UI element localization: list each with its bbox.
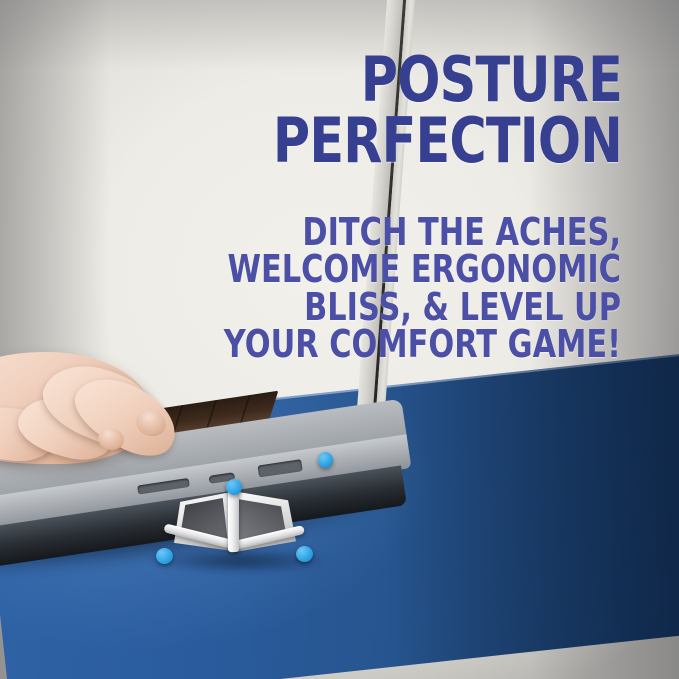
subheadline-line-2: WELCOME ERGONOMIC [173, 251, 621, 288]
subheadline-line-1: DITCH THE ACHES, [173, 214, 621, 251]
product-poster: POSTURE PERFECTION DITCH THE ACHES, WELC… [0, 0, 679, 679]
typing-hand [0, 352, 222, 482]
stand-foot-left [156, 548, 173, 564]
subheadline-line-3: BLISS, & LEVEL UP [173, 289, 621, 326]
poster-subheadline: DITCH THE ACHES, WELCOME ERGONOMIC BLISS… [173, 214, 621, 364]
stand-foot-top [226, 479, 242, 495]
subheadline-line-4: YOUR COMFORT GAME! [173, 326, 621, 363]
laptop-stand [168, 486, 300, 570]
headline-line-2: PERFECTION [163, 111, 622, 172]
poster-headline: POSTURE PERFECTION [163, 50, 622, 172]
stand-hinge-foot [318, 452, 333, 468]
stand-center-spine [228, 486, 239, 552]
headline-line-1: POSTURE [163, 50, 622, 111]
stand-foot-right [296, 546, 313, 562]
